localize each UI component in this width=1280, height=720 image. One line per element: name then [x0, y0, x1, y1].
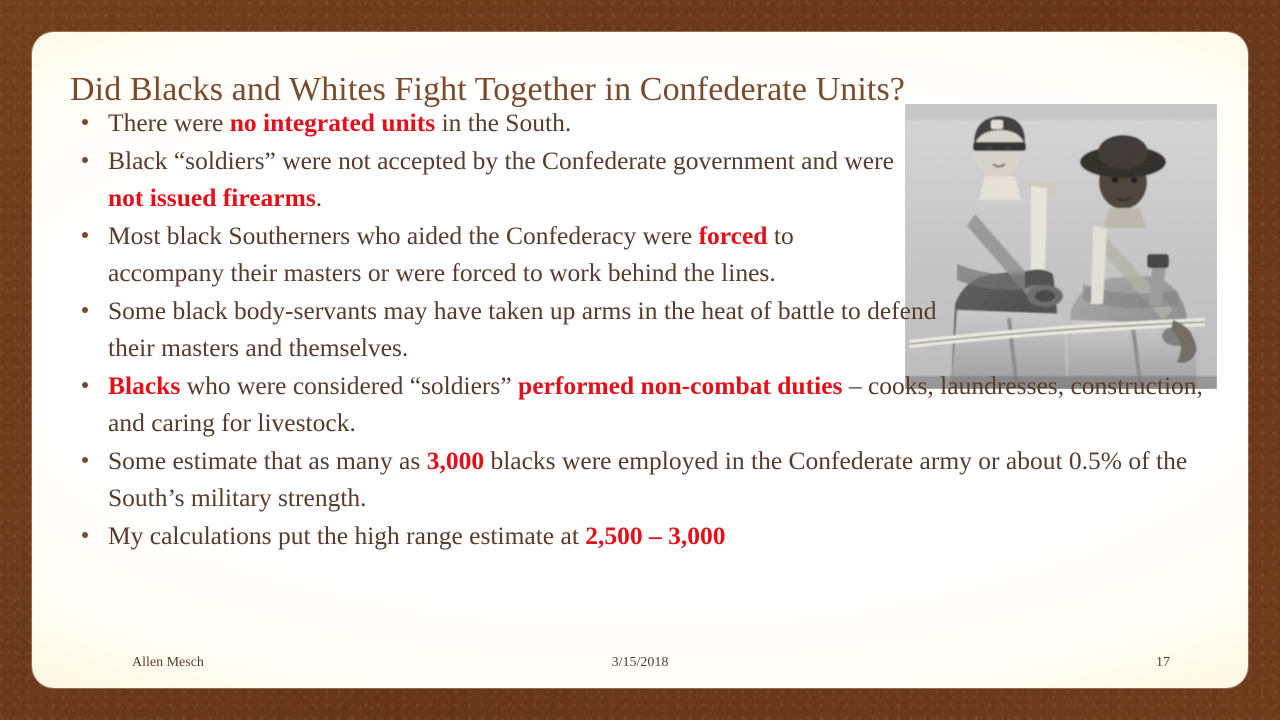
- bullet-2-emphasis-1: not issued firearms: [108, 183, 316, 212]
- bullet-text-3: Most black Southerners who aided the Con…: [108, 217, 898, 291]
- bullet-6-emphasis-1: 3,000: [427, 446, 484, 475]
- list-item: Blacks who were considered “soldiers” pe…: [70, 367, 1215, 441]
- footer-date: 3/15/2018: [32, 652, 1248, 674]
- bullet-dot-icon: [82, 157, 88, 163]
- bullet-dot-icon: [82, 457, 88, 463]
- bullet-2-segment-2: .: [316, 183, 322, 212]
- slide-footer: Allen Mesch 3/15/2018 17: [32, 652, 1248, 674]
- bullet-7-segment-1: My calculations put the high range estim…: [108, 521, 585, 550]
- bullet-2-segment-1: Black “soldiers” were not accepted by th…: [108, 146, 894, 175]
- bullet-dot-icon: [82, 119, 88, 125]
- bullet-3-segment-1: Most black Southerners who aided the Con…: [108, 221, 699, 250]
- bullet-dot-icon: [82, 232, 88, 238]
- bullet-text-1: There were no integrated units in the So…: [108, 104, 898, 141]
- bullet-text-5: Blacks who were considered “soldiers” pe…: [108, 367, 1215, 441]
- list-item: There were no integrated units in the So…: [70, 104, 1215, 141]
- footer-page-number: 17: [1156, 652, 1170, 674]
- list-item: Black “soldiers” were not accepted by th…: [70, 142, 1215, 216]
- bullet-list: There were no integrated units in the So…: [70, 104, 1215, 555]
- list-item: My calculations put the high range estim…: [70, 517, 1215, 554]
- bullet-6-segment-1: Some estimate that as many as: [108, 446, 427, 475]
- list-item: Some estimate that as many as 3,000 blac…: [70, 442, 1215, 516]
- bullet-dot-icon: [82, 532, 88, 538]
- bullet-5-emphasis-1: Blacks: [108, 371, 180, 400]
- list-item: Some black body-servants may have taken …: [70, 292, 1215, 366]
- bullet-dot-icon: [82, 382, 88, 388]
- bullet-1-emphasis-1: no integrated units: [230, 108, 435, 137]
- bullet-dot-icon: [82, 307, 88, 313]
- bullet-5-emphasis-2: performed non-combat duties: [518, 371, 842, 400]
- bullet-1-segment-1: There were: [108, 108, 230, 137]
- bullet-text-6: Some estimate that as many as 3,000 blac…: [108, 442, 1215, 516]
- bullet-text-4: Some black body-servants may have taken …: [108, 292, 948, 366]
- slide-background: Did Blacks and Whites Fight Together in …: [0, 0, 1280, 720]
- list-item: Most black Southerners who aided the Con…: [70, 217, 1215, 291]
- bullet-1-segment-2: in the South.: [435, 108, 571, 137]
- bullet-4-segment-1: Some black body-servants may have taken …: [108, 296, 937, 362]
- bullet-7-emphasis-1: 2,500 – 3,000: [585, 521, 725, 550]
- bullet-text-2: Black “soldiers” were not accepted by th…: [108, 142, 898, 216]
- bullet-3-emphasis-1: forced: [699, 221, 768, 250]
- bullet-text-7: My calculations put the high range estim…: [108, 517, 1215, 554]
- bullet-5-segment-1: who were considered “soldiers”: [180, 371, 518, 400]
- slide-content-panel: Did Blacks and Whites Fight Together in …: [32, 32, 1248, 688]
